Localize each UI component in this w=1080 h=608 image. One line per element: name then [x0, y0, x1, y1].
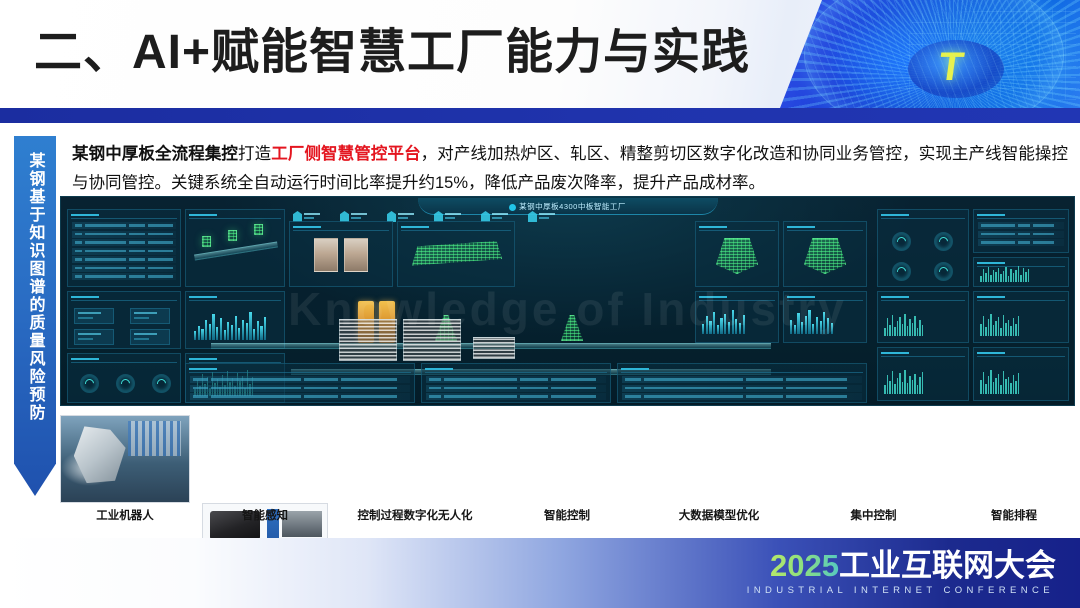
header-divider-bar: [0, 108, 1080, 123]
header-t-logo-letter: T: [925, 46, 977, 88]
kpi-tile: [74, 329, 114, 345]
header-t-logo-icon: T: [928, 46, 974, 88]
dashboard-title-text: 某钢中厚板4300中板智能工厂: [519, 202, 626, 211]
device-trend-panel-d: [973, 347, 1069, 401]
thumbnail-industrial-robot: [60, 415, 190, 503]
thumbnail-caption-intelligent-control: 智能控制: [502, 507, 632, 523]
panel-header: [189, 212, 281, 219]
table-row: [426, 376, 606, 383]
circular-gauge: [116, 374, 135, 393]
equipment-gauge-panel: [67, 353, 181, 403]
crane-unit: [202, 236, 211, 247]
process-log-panel-left: [185, 363, 415, 403]
conference-name-cn: 工业互联网大会: [839, 548, 1056, 583]
slide-header: T 二、AI+赋能智慧工厂能力与实践: [0, 0, 1080, 108]
shear-line-panel: [695, 221, 779, 287]
circular-gauge: [80, 374, 99, 393]
trend-sparkline: [980, 314, 1019, 336]
panel-header: [881, 294, 965, 301]
production-kpi-panel: [67, 291, 181, 349]
caster-unit-3d: [561, 315, 583, 341]
section-side-tab-label: 某钢基于知识图谱的质量风险预防: [24, 152, 47, 422]
table-row: [72, 248, 176, 255]
crane-3d-panel: [185, 209, 285, 287]
rolling-mill-panel: [397, 221, 515, 287]
production-bar-chart-panel: [185, 291, 285, 349]
table-row: [190, 376, 410, 383]
panel-header: [881, 350, 965, 357]
shear-trend-panel: [695, 291, 779, 343]
panel-header: [787, 294, 863, 301]
table-row: [426, 393, 606, 400]
table-row: [72, 239, 176, 246]
bar-chart: [194, 308, 266, 340]
energy-trend-panel: [973, 257, 1069, 287]
process-log-panel-mid: [421, 363, 611, 403]
header-circuit-grid: [896, 8, 1076, 100]
page-title: 二、AI+赋能智慧工厂能力与实践: [34, 22, 750, 84]
shear-machine-3d: [716, 238, 758, 274]
panel-header: [401, 224, 511, 231]
section-side-tab: 某钢基于知识图谱的质量风险预防: [14, 136, 56, 496]
crane-unit: [228, 230, 237, 241]
panel-header: [425, 366, 607, 373]
kpi-tile: [130, 329, 170, 345]
circular-gauge: [892, 262, 911, 281]
thumbnail-caption-centralized-control: 集中控制: [806, 507, 941, 523]
device-trend-panel-c: [877, 347, 969, 401]
panel-header: [699, 294, 775, 301]
furnace-stack: [344, 238, 368, 272]
capability-thumbnail-row: 工业机器人 智能感知 控制过程数字化无人化 智能控制: [60, 415, 1075, 510]
panel-header: [189, 356, 281, 363]
status-item: [528, 211, 555, 222]
table-row: [978, 222, 1064, 229]
table-row: [72, 265, 176, 272]
circular-gauge: [934, 262, 953, 281]
plate-stack-3d: [403, 319, 461, 361]
panel-header: [787, 224, 863, 231]
dashboard-title-icon: [509, 204, 516, 211]
thumbnail-caption-control-digitalization: 控制过程数字化无人化: [335, 507, 495, 523]
panel-header: [189, 294, 281, 301]
table-row: [978, 239, 1064, 246]
body-text-lead: 某钢中厚板全流程集控: [72, 145, 238, 163]
plate-stack-3d: [339, 319, 397, 361]
alarm-list-panel: [67, 209, 181, 287]
finishing-line-panel: [783, 221, 867, 287]
crane-unit: [254, 224, 263, 235]
conference-name-en: INDUSTRIAL INTERNET CONFERENCE: [747, 584, 1056, 598]
panel-header: [71, 212, 177, 219]
kpi-tile: [74, 308, 114, 324]
finishing-trend-panel: [783, 291, 867, 343]
heating-furnace-panel: [289, 221, 393, 287]
slide-footer: 2025工业互联网大会 INDUSTRIAL INTERNET CONFEREN…: [0, 538, 1080, 608]
quality-gauges-panel: [877, 209, 969, 287]
table-row: [622, 385, 862, 392]
panel-header: [977, 212, 1065, 219]
panel-header: [977, 350, 1065, 357]
circular-gauge: [892, 232, 911, 251]
energy-summary-panel: [973, 209, 1069, 253]
table-row: [72, 256, 176, 263]
process-log-table: [190, 376, 410, 402]
table-row: [622, 376, 862, 383]
panel-header: [189, 366, 411, 373]
conference-logo-main: 2025工业互联网大会: [747, 548, 1056, 584]
trend-sparkline: [884, 370, 923, 394]
panel-header: [621, 366, 863, 373]
table-row: [190, 385, 410, 392]
table-row: [190, 393, 410, 400]
thumbnail-caption-intelligent-sensing: 智能感知: [202, 507, 328, 523]
trend-sparkline: [980, 370, 1019, 394]
panel-header: [881, 212, 965, 219]
panel-header: [71, 356, 177, 363]
kpi-tile: [130, 308, 170, 324]
device-trend-panel-a: [877, 291, 969, 343]
process-log-table: [622, 376, 862, 402]
furnace-stack: [314, 238, 338, 272]
conference-year: 2025: [770, 548, 839, 583]
thumbnail-caption-industrial-robot: 工业机器人: [60, 507, 190, 523]
table-row: [72, 231, 176, 238]
panel-header: [977, 294, 1065, 301]
thumbnail-caption-bigdata-model-optimization: 大数据模型优化: [639, 507, 799, 523]
body-paragraph: 某钢中厚板全流程集控打造工厂侧智慧管控平台，对产线加热炉区、轧区、精整剪切区数字…: [72, 140, 1068, 198]
body-text-highlight: 工厂侧智慧管控平台: [271, 145, 420, 163]
table-row: [72, 222, 176, 229]
conference-logo: 2025工业互联网大会 INDUSTRIAL INTERNET CONFEREN…: [747, 548, 1056, 598]
process-log-panel-right: [617, 363, 867, 403]
device-trend-panel-b: [973, 291, 1069, 343]
header-logo-ellipse: [908, 40, 1004, 98]
factory-icon: [528, 211, 537, 222]
header-tech-graphic: T: [780, 0, 1080, 108]
process-log-table: [426, 376, 606, 402]
table-row: [622, 393, 862, 400]
panel-header: [71, 294, 177, 301]
trend-sparkline: [884, 314, 923, 336]
finishing-machine-3d: [804, 238, 846, 274]
bar-chart: [790, 308, 833, 334]
plate-buffer-3d: [473, 337, 515, 359]
bar-chart: [702, 308, 745, 334]
alarm-table: [72, 222, 176, 282]
thumbnail-caption-intelligent-scheduling: 智能排程: [953, 507, 1075, 523]
table-row: [72, 273, 176, 280]
body-text-mid: 打造: [238, 145, 271, 163]
rolling-mill-3d: [412, 238, 502, 268]
trend-sparkline: [980, 266, 1029, 282]
circular-gauge: [934, 232, 953, 251]
table-row: [978, 231, 1064, 238]
smart-factory-dashboard-screenshot: 某钢中厚板4300中板智能工厂: [60, 196, 1075, 406]
panel-header: [293, 224, 389, 231]
panel-header: [699, 224, 775, 231]
table-row: [426, 385, 606, 392]
energy-table: [978, 222, 1064, 248]
circular-gauge: [152, 374, 171, 393]
